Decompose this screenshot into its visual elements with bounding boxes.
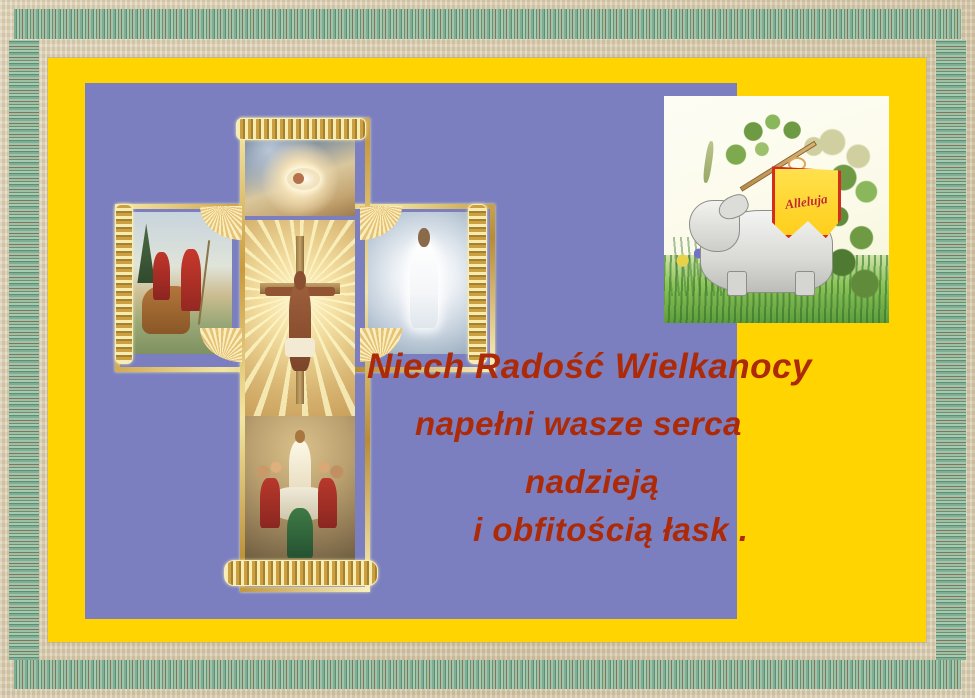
alleluja-banner-text: Alleluja xyxy=(784,191,828,213)
lamb-leg xyxy=(795,271,815,296)
apostle-left xyxy=(260,478,280,528)
scene-crucifixion xyxy=(245,220,355,416)
apostle-foreground xyxy=(287,508,313,558)
frame-band-top xyxy=(14,9,961,39)
risen-christ-figure xyxy=(410,240,439,328)
scene-nativity xyxy=(245,134,355,216)
infant-figure xyxy=(287,168,320,189)
frame-band-bottom xyxy=(14,660,961,689)
gold-finial-bottom xyxy=(224,560,378,586)
poster-background: Alleluja xyxy=(48,58,926,642)
christ-figure xyxy=(289,285,311,371)
scene-last-supper xyxy=(245,416,355,564)
mary-figure xyxy=(153,252,171,300)
gold-finial-left xyxy=(115,204,133,364)
crucifix-artwork xyxy=(112,116,487,584)
easter-greeting-card: Alleluja Niech Radość Wielkanocy napełni… xyxy=(0,0,975,698)
frame-band-left xyxy=(9,40,39,660)
christ-at-table xyxy=(289,440,311,493)
catkin-shape xyxy=(702,141,715,184)
loincloth xyxy=(285,338,316,358)
gold-finial-right xyxy=(468,204,487,364)
lamb-leg xyxy=(727,271,747,296)
joseph-figure xyxy=(181,249,201,311)
gold-finial-top xyxy=(236,118,366,140)
frame-band-right xyxy=(936,40,966,660)
apostle-right xyxy=(318,478,338,528)
paschal-lamb-picture: Alleluja xyxy=(664,96,889,323)
